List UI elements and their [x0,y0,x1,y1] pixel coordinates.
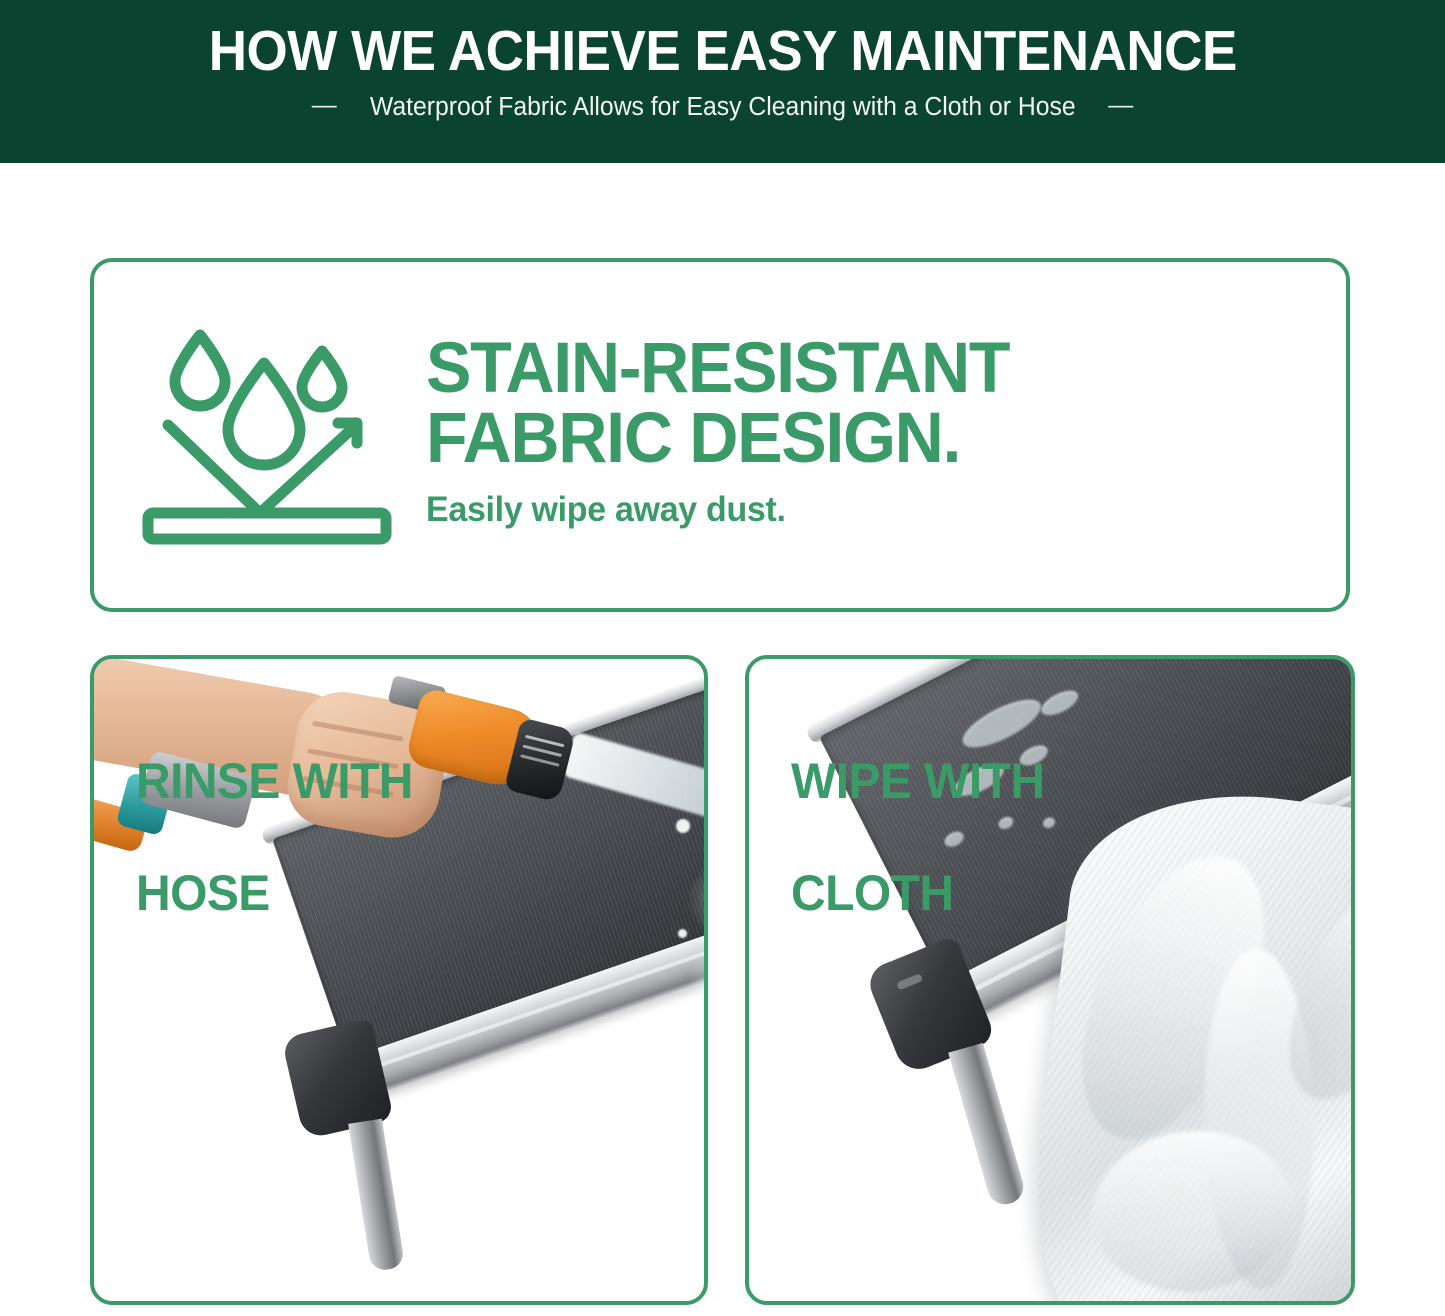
wipe-heading-line-1: WIPE WITH [791,753,1044,809]
dash-right-decoration: — [1108,93,1133,118]
feature-card-stain-resistant: STAIN-RESISTANT FABRIC DESIGN. Easily wi… [90,258,1350,612]
feature-subtitle: Easily wipe away dust. [426,490,1318,530]
water-repellent-fabric-icon [142,319,392,551]
wipe-with-cloth-card: WIPE WITH CLOTH [745,655,1355,1305]
feature-card-inner: STAIN-RESISTANT FABRIC DESIGN. Easily wi… [94,262,1346,608]
feature-card-text: STAIN-RESISTANT FABRIC DESIGN. Easily wi… [426,334,1346,536]
wipe-card-heading: WIPE WITH CLOTH [791,697,1044,921]
rinse-card-heading: RINSE WITH HOSE [136,697,413,921]
wipe-heading-line-2: CLOTH [791,865,953,921]
dash-left-decoration: — [312,93,337,118]
page-title: HOW WE ACHIEVE EASY MAINTENANCE [208,22,1236,80]
page-subtitle-row: — Waterproof Fabric Allows for Easy Clea… [312,93,1134,122]
rinse-heading-line-2: HOSE [136,865,270,921]
page-subtitle: Waterproof Fabric Allows for Easy Cleani… [370,93,1076,122]
page-header: HOW WE ACHIEVE EASY MAINTENANCE — Waterp… [0,0,1445,163]
feature-title-line-1: STAIN-RESISTANT [426,334,1309,404]
feature-title-line-2: FABRIC DESIGN. [426,404,1309,474]
rinse-heading-line-1: RINSE WITH [136,753,413,809]
cot-leg-left [348,1119,405,1272]
cot-leg-left [948,1043,1027,1209]
water-splash [654,779,704,1079]
rinse-with-hose-card: RINSE WITH HOSE [90,655,708,1305]
